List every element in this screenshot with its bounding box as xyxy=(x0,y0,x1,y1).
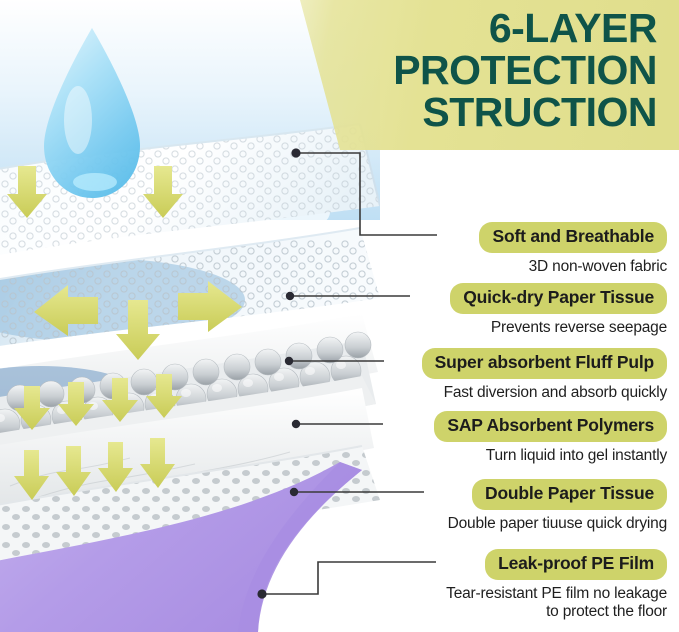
layer-desc-4: Turn liquid into gel instantly xyxy=(434,447,667,465)
layer-desc-6-line2: to protect the floor xyxy=(446,603,667,621)
layer-label-1: Soft and Breathable xyxy=(479,222,667,253)
callout-leak-proof-pe-film[interactable]: Leak-proof PE Film Tear-resistant PE fil… xyxy=(446,549,667,621)
callout-soft-and-breathable[interactable]: Soft and Breathable 3D non-woven fabric xyxy=(479,222,667,276)
layer-label-3: Super absorbent Fluff Pulp xyxy=(422,348,667,379)
callout-list: Soft and Breathable 3D non-woven fabric … xyxy=(330,0,679,632)
callout-double-paper-tissue[interactable]: Double Paper Tissue Double paper tiuuse … xyxy=(448,479,667,533)
callout-quick-dry-paper-tissue[interactable]: Quick-dry Paper Tissue Prevents reverse … xyxy=(450,283,667,337)
layer-desc-5: Double paper tiuuse quick drying xyxy=(448,515,667,533)
layer-label-2: Quick-dry Paper Tissue xyxy=(450,283,667,314)
layer-label-4: SAP Absorbent Polymers xyxy=(434,411,667,442)
six-layer-protection-infographic: 6-LAYER PROTECTION STRUCTION Soft and Br… xyxy=(0,0,679,632)
layer-label-6: Leak-proof PE Film xyxy=(485,549,667,580)
layer-desc-6-line1: Tear-resistant PE film no leakage xyxy=(446,585,667,602)
layer-desc-3: Fast diversion and absorb quickly xyxy=(422,384,667,402)
callout-super-absorbent-fluff-pulp[interactable]: Super absorbent Fluff Pulp Fast diversio… xyxy=(422,348,667,402)
callout-sap-absorbent-polymers[interactable]: SAP Absorbent Polymers Turn liquid into … xyxy=(434,411,667,465)
layer-desc-1: 3D non-woven fabric xyxy=(479,258,667,276)
layer-desc-2: Prevents reverse seepage xyxy=(450,319,667,337)
layer-desc-6: Tear-resistant PE film no leakage to pro… xyxy=(446,585,667,622)
layer-label-5: Double Paper Tissue xyxy=(472,479,667,510)
